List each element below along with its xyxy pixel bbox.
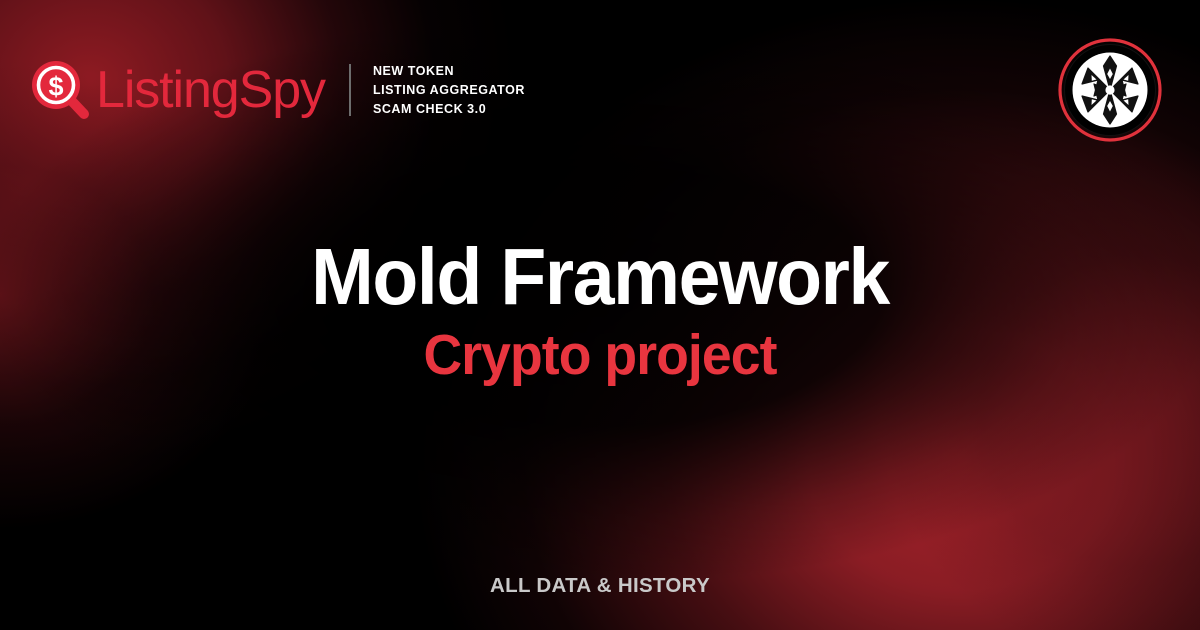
background-glow-right-edge [880,150,1200,630]
brand-tagline-line-1: NEW TOKEN [373,62,525,81]
project-title: Mold Framework [36,236,1164,318]
footer-note: ALL DATA & HISTORY [0,574,1200,598]
promo-card: $ ListingSpy NEW TOKEN LISTING AGGREGATO… [0,0,1200,630]
brand-header[interactable]: $ ListingSpy NEW TOKEN LISTING AGGREGATO… [30,52,525,128]
brand-wordmark: ListingSpy [96,64,325,116]
project-subtitle: Crypto project [36,326,1164,386]
brand-divider [349,64,351,116]
brand-wordmark-listing: Listing [96,61,239,119]
title-block: Mold Framework Crypto project [0,236,1200,385]
brand-wordmark-spy: Spy [239,61,325,119]
magnifier-dollar-icon: $ [30,59,92,121]
brand-tagline-line-2: LISTING AGGREGATOR [373,81,525,100]
svg-text:$: $ [48,71,63,101]
brand-tagline-line-3: SCAM CHECK 3.0 [373,100,525,119]
mold-framework-token-logo-icon [1058,38,1162,142]
brand-tagline: NEW TOKEN LISTING AGGREGATOR SCAM CHECK … [373,62,525,119]
